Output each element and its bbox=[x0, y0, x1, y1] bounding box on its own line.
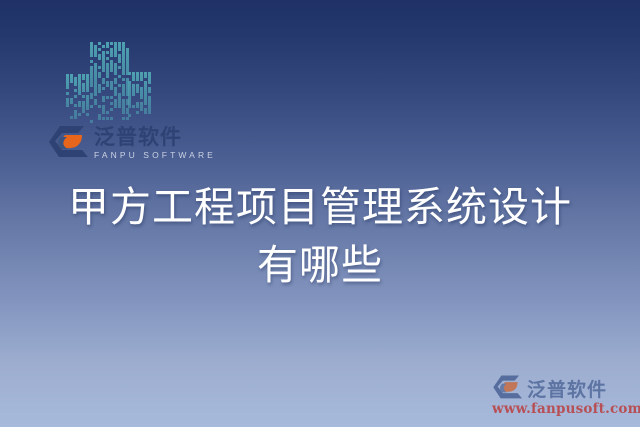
pixel-tower bbox=[66, 74, 90, 119]
watermark-name-cn: 泛普软件 bbox=[527, 375, 607, 402]
slide-canvas: 泛普软件 FANPU SOFTWARE 甲方工程项目管理系统设计 有哪些 泛普软… bbox=[0, 0, 640, 427]
fanpu-hexagon-swoosh-logo-icon bbox=[48, 124, 90, 162]
brand-name-en: FANPU SOFTWARE bbox=[94, 150, 216, 160]
pixel-tower bbox=[128, 72, 152, 117]
page-title-line-2: 有哪些 bbox=[0, 236, 640, 294]
brand-name-cn: 泛普软件 bbox=[94, 126, 216, 148]
page-title: 甲方工程项目管理系统设计 有哪些 bbox=[0, 178, 640, 294]
watermark-logo-row: 泛普软件 bbox=[492, 374, 632, 402]
pixel-city-skyline-icon bbox=[66, 38, 150, 122]
page-title-line-1: 甲方工程项目管理系统设计 bbox=[0, 178, 640, 236]
brand-logo: 泛普软件 FANPU SOFTWARE bbox=[48, 124, 216, 162]
pixel-tower bbox=[90, 42, 130, 123]
brand-text-block: 泛普软件 FANPU SOFTWARE bbox=[94, 126, 216, 160]
watermark-url: www.fanpusoft.com bbox=[492, 401, 632, 417]
fanpu-hexagon-swoosh-logo-icon bbox=[492, 374, 524, 402]
watermark: 泛普软件 www.fanpusoft.com bbox=[492, 374, 632, 417]
